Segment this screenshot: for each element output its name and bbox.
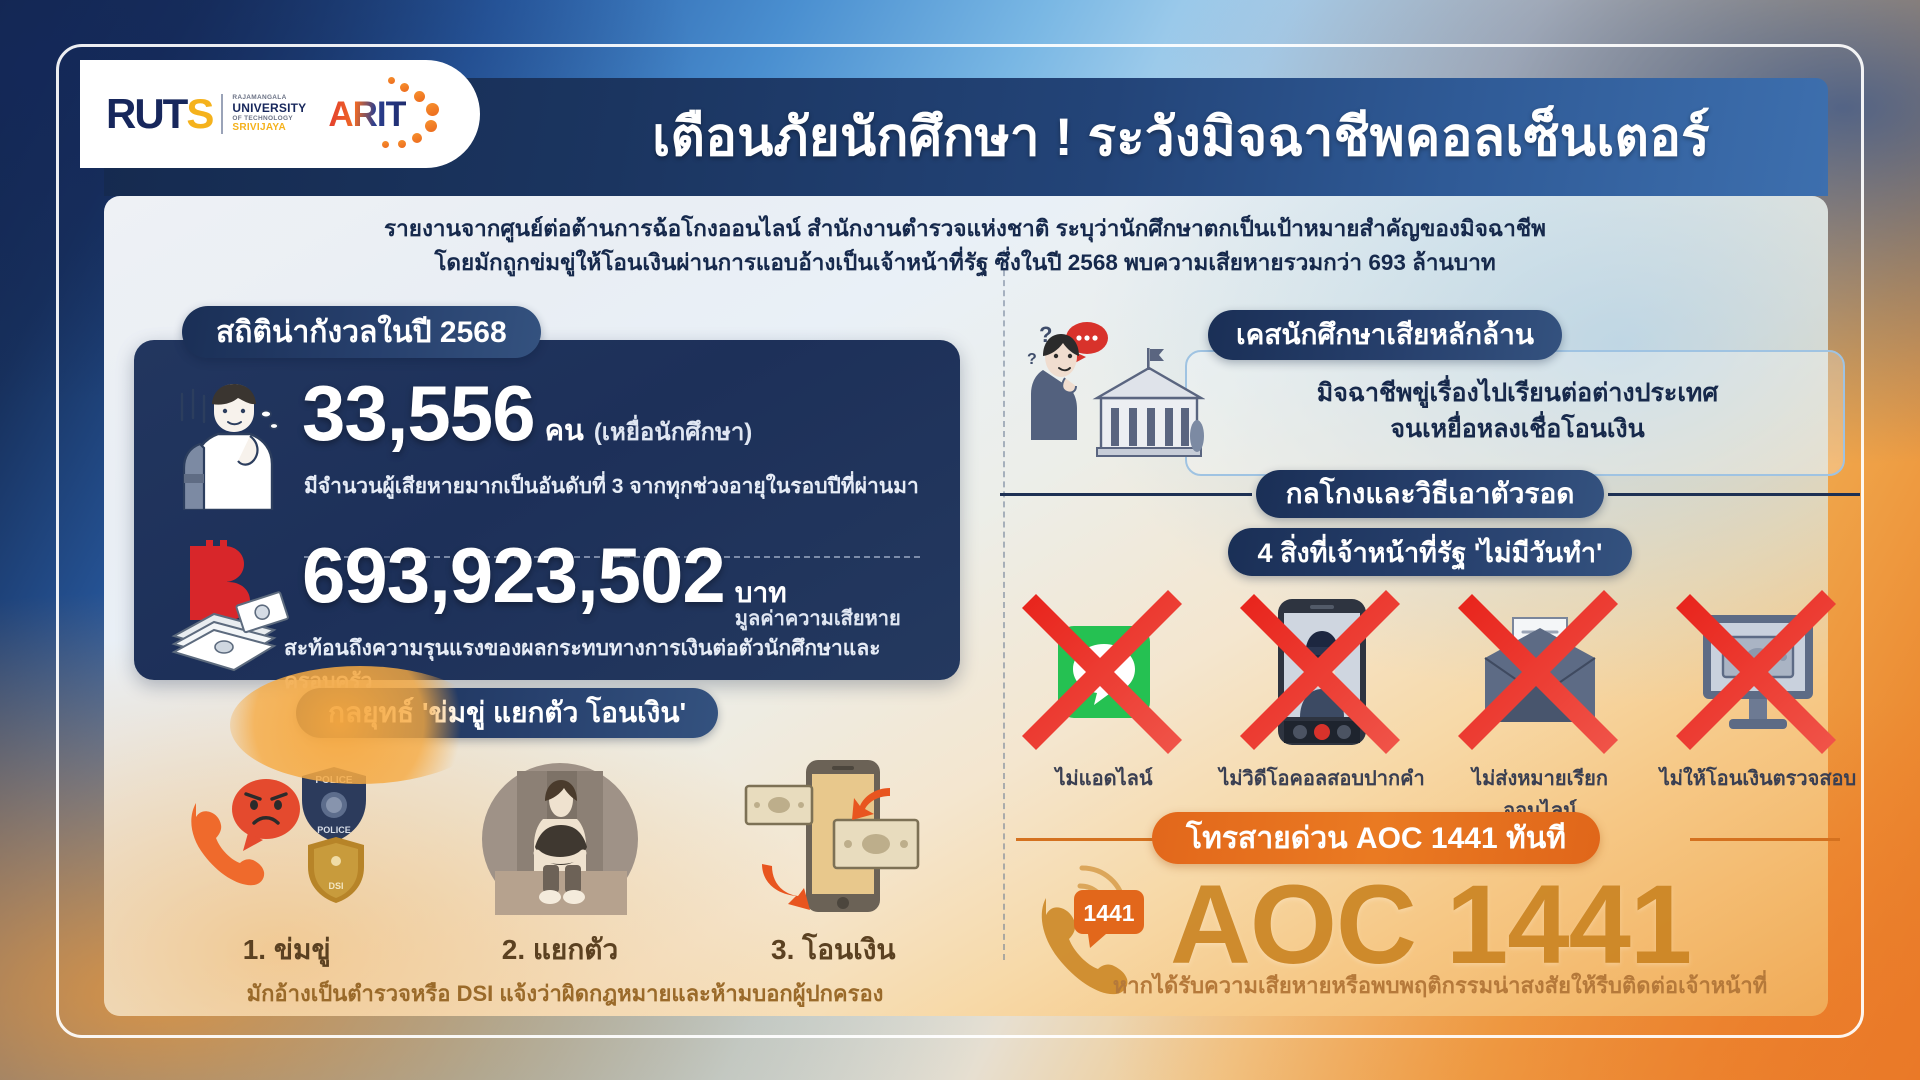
nono-grid: ไม่แอดไลน์ — [1000, 588, 1862, 826]
ruts-subtext: RAJAMANGALA UNIVERSITY OF TECHNOLOGY SRI… — [232, 94, 306, 133]
baht-money-stack-icon — [162, 540, 290, 672]
nono-art-4 — [1654, 588, 1862, 756]
arit-dot — [426, 103, 439, 116]
tactic-art-3 — [708, 756, 958, 916]
nono-label-2: ไม่วิดีโอคอลสอบปากคำ — [1218, 762, 1426, 794]
damage-number-line: 693,923,502 บาท มูลค่าความเสียหาย — [302, 536, 901, 631]
nono-item-3: ไม่ส่งหมายเรียกออนไลน์ — [1436, 588, 1644, 826]
arit-dot — [400, 83, 409, 92]
damage-label: มูลค่าความเสียหาย — [735, 608, 901, 630]
video-call-police-icon — [1276, 597, 1368, 747]
stressed-student-icon — [162, 378, 290, 510]
tactic-item-1: POLICE POLICE DSI 1. ข่มขู่ — [162, 756, 412, 972]
victims-paren: (เหยื่อนักศึกษา) — [594, 412, 752, 451]
ruts-word-a: RUT — [106, 90, 186, 137]
tactic-art-1: POLICE POLICE DSI — [162, 756, 412, 916]
victims-unit: คน — [545, 407, 584, 453]
arit-dot — [412, 133, 422, 143]
nono-art-1 — [1000, 588, 1208, 756]
statistics-card: 33,556 คน (เหยื่อนักศึกษา) มีจำนวนผู้เสี… — [134, 340, 960, 680]
damage-unit: บาท — [735, 577, 901, 608]
scams-section-header: กลโกงและวิธีเอาตัวรอด — [1000, 470, 1860, 518]
case-line-1: มิจฉาชีพขู่เรื่องไปเรียนต่อต่างประเทศ — [1205, 376, 1830, 412]
svg-text:POLICE: POLICE — [317, 825, 351, 835]
section-rule-right — [1608, 493, 1860, 496]
case-badge: เคสนักศึกษาเสียหลักล้าน — [1208, 310, 1562, 360]
nono-art-2 — [1218, 588, 1426, 756]
arit-dot — [388, 77, 395, 84]
nono-item-1: ไม่แอดไลน์ — [1000, 588, 1208, 826]
tactic-item-3: 3. โอนเงิน — [708, 756, 958, 972]
aoc-rule-right — [1690, 838, 1840, 841]
victims-note: มีจำนวนผู้เสียหายมากเป็นอันดับที่ 3 จากท… — [304, 470, 919, 503]
case-line-2: จนเหยื่อหลงเชื่อโอนเงิน — [1205, 412, 1830, 448]
arit-dot — [414, 91, 425, 102]
ruts-wordmark: RUTS — [106, 93, 212, 135]
tactic-label-1: 1. ข่มขู่ — [162, 928, 412, 972]
arit-dot — [382, 141, 389, 148]
worried-student-embassy-icon: ? ? — [1025, 312, 1205, 472]
tactic-badge: กลยุทธ์ 'ข่มขู่ แยกตัว โอนเงิน' — [296, 688, 718, 738]
tactic-art-2 — [435, 756, 685, 916]
isolated-person-corner-icon — [465, 761, 655, 916]
phone-money-transfer-icon — [738, 758, 928, 916]
ruts-line3: OF TECHNOLOGY — [232, 115, 306, 122]
tactic-list: POLICE POLICE DSI 1. ข่มขู่ — [150, 756, 970, 972]
arit-dot — [425, 120, 437, 132]
ruts-line2: UNIVERSITY — [232, 102, 306, 115]
intro-paragraph: รายงานจากศูนย์ต่อต้านการฉ้อโกงออนไลน์ สำ… — [150, 212, 1780, 280]
aoc-chip-number: 1441 — [1083, 900, 1134, 926]
svg-text:?: ? — [1027, 351, 1037, 368]
ruts-line4: SRIVIJAYA — [232, 122, 306, 133]
damage-unit-stack: บาท มูลค่าความเสียหาย — [735, 577, 901, 631]
aoc-caption: หากได้รับความเสียหายหรือพบพฤติกรรมน่าสงส… — [1020, 968, 1860, 1003]
victims-number: 33,556 — [302, 374, 535, 452]
ruts-word-b: S — [186, 90, 212, 137]
page-title: เตือนภัยนักศึกษา ! ระวังมิจฉาชีพคอลเซ็นเ… — [574, 78, 1788, 196]
aoc-rule-left — [1016, 838, 1156, 841]
tactic-item-2: 2. แยกตัว — [435, 756, 685, 972]
ruts-divider — [221, 94, 223, 134]
case-description: มิจฉาชีพขู่เรื่องไปเรียนต่อต่างประเทศ จน… — [1205, 376, 1830, 447]
line-app-icon — [1044, 612, 1164, 732]
svg-text:DSI: DSI — [328, 881, 343, 891]
ruts-logo: RUTS RAJAMANGALA UNIVERSITY OF TECHNOLOG… — [106, 93, 306, 135]
tactic-label-2: 2. แยกตัว — [435, 928, 685, 972]
arit-wordmark: ARIT — [328, 95, 406, 135]
svg-text:POLICE: POLICE — [315, 775, 353, 786]
stats-badge: สถิติน่ากังวลในปี 2568 — [182, 306, 541, 358]
damage-number: 693,923,502 — [302, 536, 725, 614]
monitor-money-icon — [1695, 607, 1821, 737]
aoc-hotline-badge: โทรสายด่วน AOC 1441 ทันที — [1152, 812, 1600, 864]
nono-item-4: ไม่ให้โอนเงินตรวจสอบ — [1654, 588, 1862, 826]
victims-number-line: 33,556 คน (เหยื่อนักศึกษา) — [302, 374, 752, 453]
nono-art-3 — [1436, 588, 1644, 756]
arit-logo: ARIT — [324, 75, 442, 153]
nono-label-1: ไม่แอดไลน์ — [1000, 762, 1208, 794]
tactic-label-3: 3. โอนเงิน — [708, 928, 958, 972]
sub-head-label: 4 สิ่งที่เจ้าหน้าที่รัฐ 'ไม่มีวันทำ' — [1228, 528, 1633, 576]
nono-subheader: 4 สิ่งที่เจ้าหน้าที่รัฐ 'ไม่มีวันทำ' — [1000, 528, 1860, 576]
tactic-caption: มักอ้างเป็นตำรวจหรือ DSI แจ้งว่าผิดกฎหมา… — [130, 976, 1000, 1011]
nono-label-4: ไม่ให้โอนเงินตรวจสอบ — [1654, 762, 1862, 794]
section-head-label: กลโกงและวิธีเอาตัวรอด — [1256, 470, 1605, 518]
nono-item-2: ไม่วิดีโอคอลสอบปากคำ — [1218, 588, 1426, 826]
intro-line-1: รายงานจากศูนย์ต่อต้านการฉ้อโกงออนไลน์ สำ… — [150, 212, 1780, 246]
logo-lobe: RUTS RAJAMANGALA UNIVERSITY OF TECHNOLOG… — [80, 60, 480, 168]
infographic-poster: เตือนภัยนักศึกษา ! ระวังมิจฉาชีพคอลเซ็นเ… — [0, 0, 1920, 1080]
section-rule-left — [1000, 493, 1252, 496]
arit-dot — [398, 140, 406, 148]
angry-call-police-badge-icon: POLICE POLICE DSI — [182, 761, 392, 916]
envelope-summons-icon — [1475, 612, 1605, 732]
intro-line-2: โดยมักถูกข่มขู่ให้โอนเงินผ่านการแอบอ้างเ… — [150, 246, 1780, 280]
